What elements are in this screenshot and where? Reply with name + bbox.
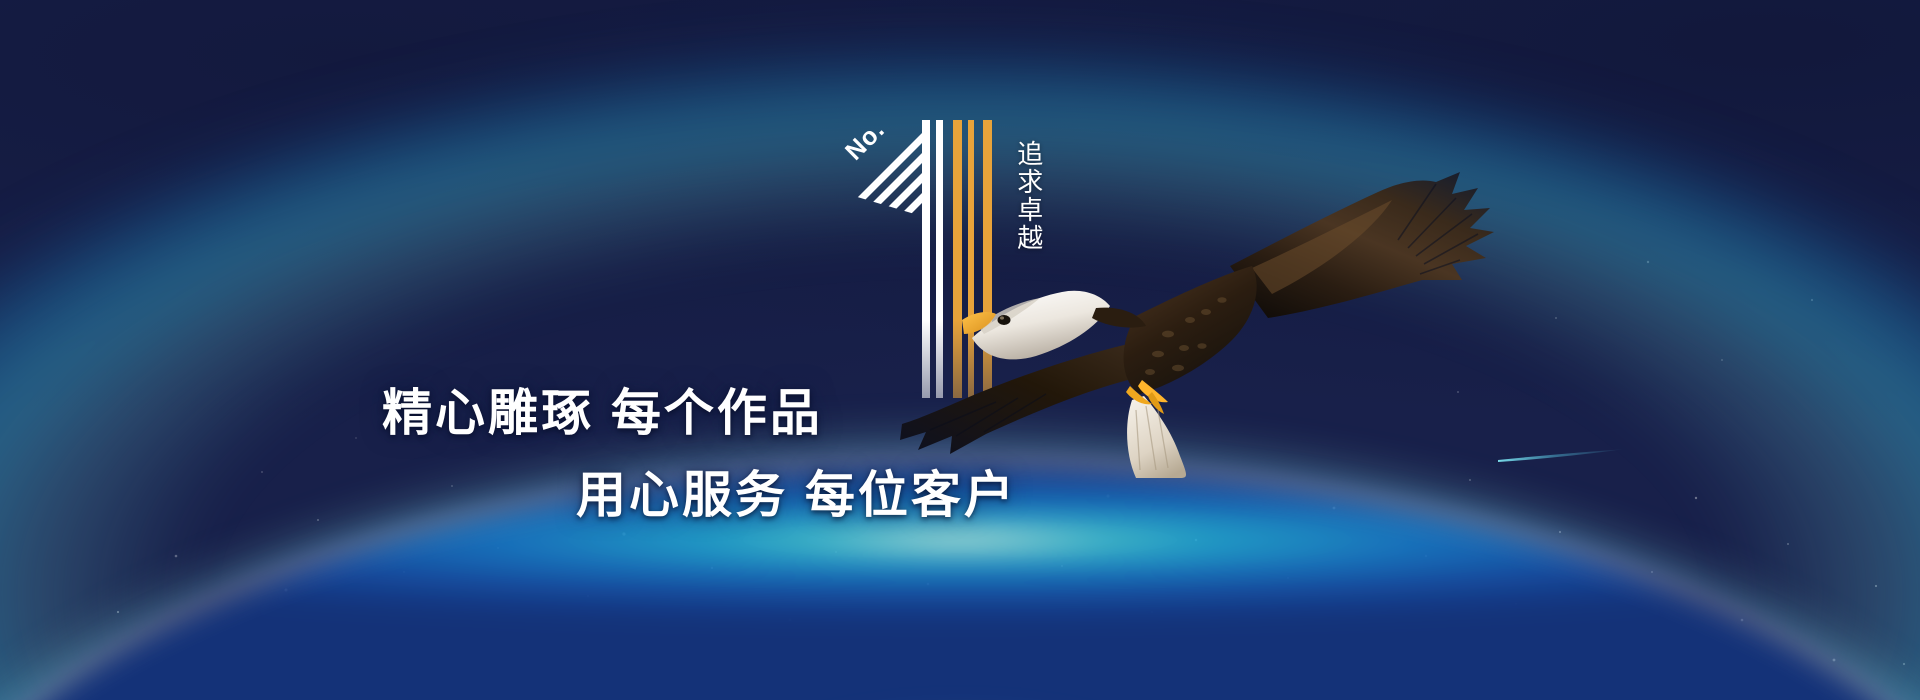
- no-1-logo: No.: [836, 108, 1096, 398]
- logo-vertical-stripes: [922, 120, 992, 398]
- hero-banner: No.: [0, 0, 1920, 700]
- vertical-tagline: 追求卓越: [1006, 140, 1051, 252]
